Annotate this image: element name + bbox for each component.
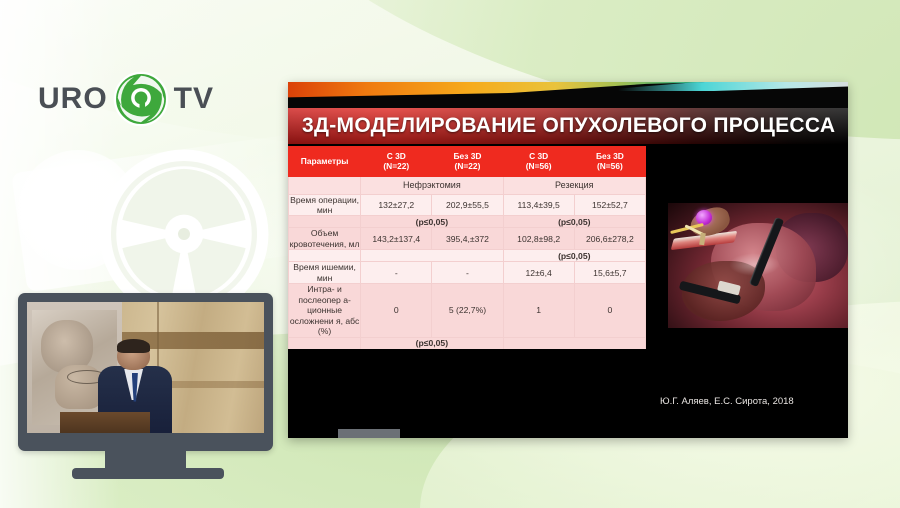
logo-text-tv: TV [174, 82, 214, 116]
table-cell: 113,4±39,5 [503, 194, 574, 216]
surgical-image [668, 203, 848, 328]
header-label: Параметры [301, 156, 349, 166]
table-cell: 152±52,7 [574, 194, 645, 216]
header-label: С 3D [387, 151, 406, 161]
table-cell: 102,8±98,2 [503, 228, 574, 250]
header-sub: (N=56) [526, 161, 552, 171]
header-label: Без 3D [596, 151, 624, 161]
pvalue-empty [503, 337, 645, 349]
model-tumor-highlight [696, 210, 712, 225]
table-cell: 0 [361, 284, 432, 337]
table-header-cell: Параметры [289, 147, 361, 177]
scene-podium [60, 412, 150, 433]
row-label: Объем кровотечения, мл [289, 228, 361, 250]
row-label: Время операции, мин [289, 194, 361, 216]
table-header-row: Параметры С 3D (N=22) Без 3D (N=22) С 3D… [289, 147, 646, 177]
screenshot-root: URO TV [0, 0, 900, 508]
table-pvalue-row: (p≤0,05) [289, 337, 646, 349]
pvalue-spacer [289, 250, 361, 262]
table-cell: 202,9±55,5 [432, 194, 503, 216]
table-cell: 395,4,±372 [432, 228, 503, 250]
header-label: С 3D [529, 151, 548, 161]
slide-title: 3Д-МОДЕЛИРОВАНИЕ ОПУХОЛЕВОГО ПРОЦЕССА [302, 108, 835, 144]
header-label: Без 3D [454, 151, 482, 161]
pvalue-nephrectomy: (p≤0,05) [361, 337, 503, 349]
table-pvalue-row: (p≤0,05) (p≤0,05) [289, 216, 646, 228]
table-header-cell: Без 3D (N=22) [432, 147, 503, 177]
table-cell: 15,6±5,7 [574, 262, 645, 284]
slide-citation: Ю.Г. Аляев, Е.С. Сирота, 2018 [660, 396, 794, 407]
lecture-video-monitor[interactable] [18, 293, 273, 451]
slide-footer-tab [338, 429, 400, 438]
table-cell: - [361, 262, 432, 284]
table-cell: 132±27,2 [361, 194, 432, 216]
pvalue-empty [361, 250, 503, 262]
scene-speaker-hair [117, 339, 150, 353]
monitor-stand-base [72, 468, 224, 479]
uro-tv-logo[interactable]: URO TV [38, 70, 214, 128]
row-label: Интра- и послеопер а-ционные осложнени я… [289, 284, 361, 337]
table-cell: 1 [503, 284, 574, 337]
group-header-resection: Резекция [503, 176, 645, 194]
table-pvalue-row: (p≤0,05) [289, 250, 646, 262]
table-header-cell: С 3D (N=56) [503, 147, 574, 177]
row-label: Время ишемии, мин [289, 262, 361, 284]
pvalue-nephrectomy: (p≤0,05) [361, 216, 503, 228]
table-cell: 143,2±137,4 [361, 228, 432, 250]
pvalue-spacer [289, 337, 361, 349]
kidney-3d-model-overlay [670, 207, 744, 263]
table-group-header-row: Нефрэктомия Резекция [289, 176, 646, 194]
table-row: Время операции, мин 132±27,2 202,9±55,5 … [289, 194, 646, 216]
table-row: Интра- и послеопер а-ционные осложнени я… [289, 284, 646, 337]
table-cell: 0 [574, 284, 645, 337]
header-sub: (N=56) [597, 161, 623, 171]
header-sub: (N=22) [383, 161, 409, 171]
table-cell: 206,6±278,2 [574, 228, 645, 250]
table-header-cell: Без 3D (N=56) [574, 147, 645, 177]
logo-text-uro: URO [38, 82, 108, 116]
slide-top-decoration [288, 82, 848, 108]
results-table: Параметры С 3D (N=22) Без 3D (N=22) С 3D… [288, 146, 646, 349]
video-screen[interactable] [27, 302, 264, 433]
table-cell: 5 (22,7%) [432, 284, 503, 337]
group-header-spacer [289, 176, 361, 194]
table-cell: - [432, 262, 503, 284]
table-row: Время ишемии, мин - - 12±6,4 15,6±5,7 [289, 262, 646, 284]
table-cell: 12±6,4 [503, 262, 574, 284]
table-row: Объем кровотечения, мл 143,2±137,4 395,4… [289, 228, 646, 250]
pvalue-resection: (p≤0,05) [503, 216, 645, 228]
pvalue-spacer [289, 216, 361, 228]
header-sub: (N=22) [455, 161, 481, 171]
pvalue-resection: (p≤0,05) [503, 250, 645, 262]
uro-tv-emblem-icon [112, 70, 170, 128]
table-header-cell: С 3D (N=22) [361, 147, 432, 177]
monitor-stand-neck [105, 451, 186, 468]
group-header-nephrectomy: Нефрэктомия [361, 176, 503, 194]
